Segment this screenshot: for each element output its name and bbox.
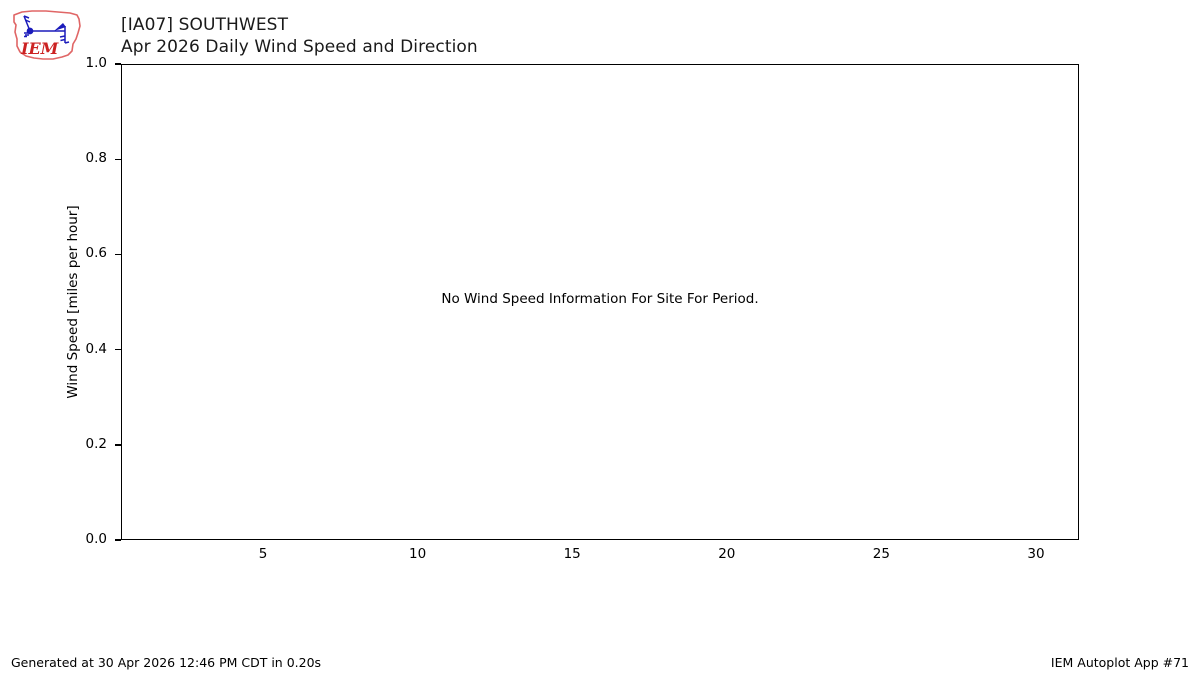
- y-tick-label: 0.2: [86, 436, 107, 452]
- y-tick-label: 0.8: [86, 150, 107, 166]
- x-tick-label: 30: [1006, 546, 1066, 562]
- page-title: [IA07] SOUTHWEST Apr 2026 Daily Wind Spe…: [121, 14, 478, 58]
- chart-title-line-1: [IA07] SOUTHWEST: [121, 14, 478, 36]
- y-tick-label: 0.6: [86, 245, 107, 261]
- y-tick-label: 0.4: [86, 341, 107, 357]
- x-tick-label: 10: [388, 546, 448, 562]
- footer-generated-text: Generated at 30 Apr 2026 12:46 PM CDT in…: [11, 655, 321, 670]
- iem-logo[interactable]: IEM: [10, 6, 86, 63]
- x-tick-label: 15: [542, 546, 602, 562]
- footer-app-text: IEM Autoplot App #71: [1051, 655, 1189, 670]
- y-tick-label: 0.0: [86, 531, 107, 547]
- chart-title-line-2: Apr 2026 Daily Wind Speed and Direction: [121, 36, 478, 58]
- iem-logo-text: IEM: [20, 39, 60, 58]
- y-axis-label: Wind Speed [miles per hour]: [63, 64, 83, 540]
- plot-area: No Wind Speed Information For Site For P…: [121, 64, 1079, 540]
- no-data-message: No Wind Speed Information For Site For P…: [122, 291, 1078, 307]
- iem-logo-graphic: IEM: [10, 6, 86, 63]
- x-tick-label: 5: [233, 546, 293, 562]
- x-tick-label: 20: [697, 546, 757, 562]
- y-tick-label: 1.0: [86, 55, 107, 71]
- x-tick-label: 25: [851, 546, 911, 562]
